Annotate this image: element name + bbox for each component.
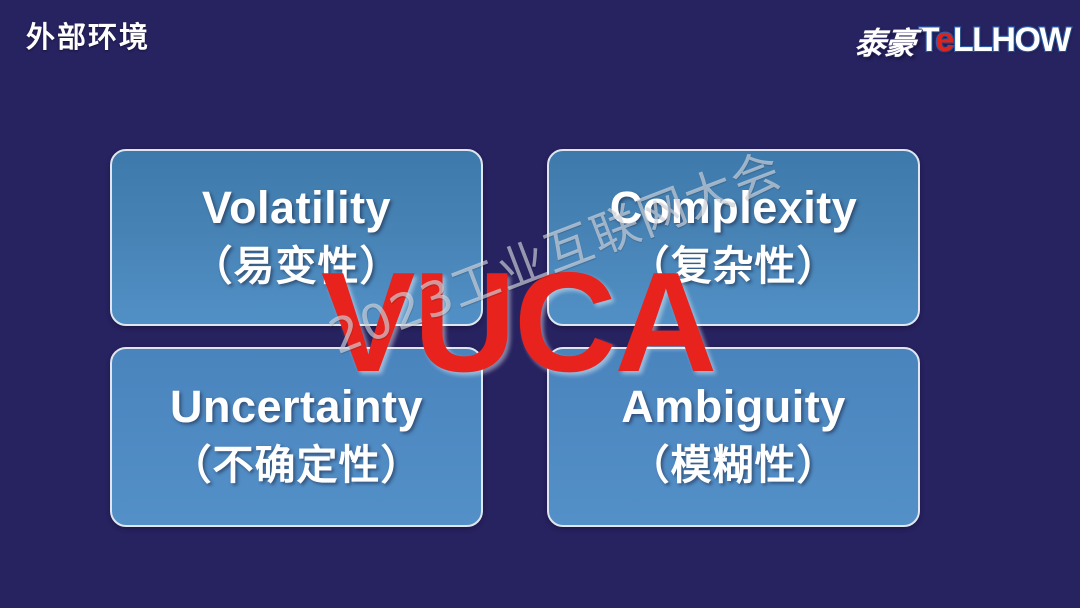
slide-canvas: 外部环境 泰豪 TeLLHOW Volatility （易变性） Complex… [0, 0, 1080, 608]
company-logo: 泰豪 TeLLHOW [855, 12, 1070, 68]
logo-latin-suffix: LLHOW [953, 21, 1070, 59]
vuca-box-uncertainty-english: Uncertainty [170, 379, 423, 435]
vuca-box-volatility-english: Volatility [202, 180, 391, 236]
vuca-box-complexity-english: Complexity [610, 180, 858, 236]
vuca-box-volatility-chinese: （易变性） [192, 236, 402, 296]
logo-chinese-mark: 泰豪 [852, 18, 917, 63]
vuca-box-ambiguity-english: Ambiguity [621, 379, 846, 435]
logo-latin-prefix: T [919, 21, 936, 59]
slide-header: 外部环境 泰豪 TeLLHOW [0, 0, 1080, 84]
vuca-box-complexity-chinese: （复杂性） [629, 236, 839, 296]
vuca-box-ambiguity: Ambiguity （模糊性） [547, 347, 920, 527]
vuca-box-uncertainty-chinese: （不确定性） [171, 435, 423, 495]
logo-latin-accent: e [935, 21, 952, 59]
vuca-box-volatility: Volatility （易变性） [110, 149, 483, 326]
vuca-grid: Volatility （易变性） Complexity （复杂性） Uncert… [110, 149, 920, 527]
logo-latin-mark: TeLLHOW [919, 21, 1070, 59]
vuca-box-uncertainty: Uncertainty （不确定性） [110, 347, 483, 527]
vuca-box-complexity: Complexity （复杂性） [547, 149, 920, 326]
vuca-box-ambiguity-chinese: （模糊性） [629, 435, 839, 495]
page-title: 外部环境 [26, 18, 150, 58]
